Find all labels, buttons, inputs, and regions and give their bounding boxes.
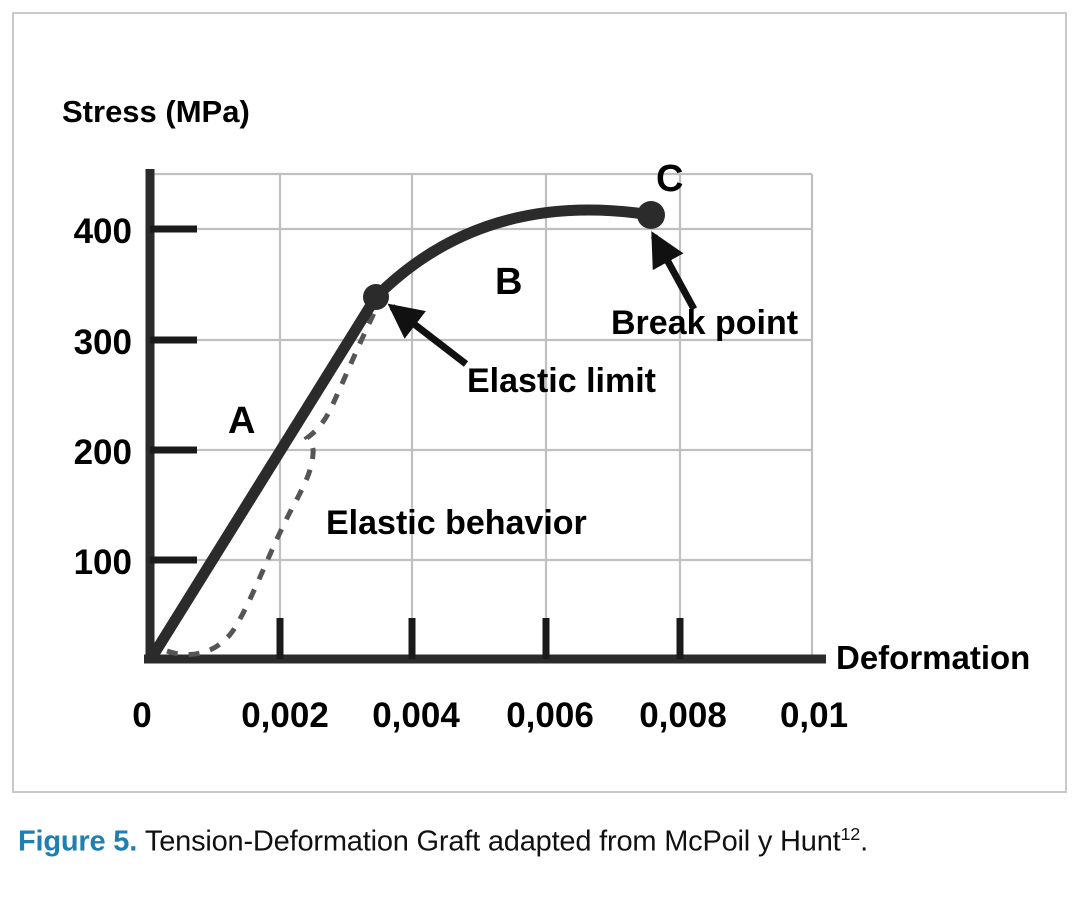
x-axis-title: Deformation (836, 639, 1030, 676)
y-tick-label-400: 400 (74, 212, 132, 251)
region-label-b: B (495, 261, 522, 303)
elastic-region-line (154, 297, 376, 654)
elastic-limit-point-marker (363, 284, 389, 310)
figure-caption-text: Tension-Deformation Graft adapted from M… (145, 826, 841, 858)
figure-panel: Stress (MPa) (12, 12, 1067, 793)
page-root: Stress (MPa) (0, 0, 1082, 914)
figure-caption-period: . (860, 826, 868, 858)
annotation-elastic-behavior: Elastic behavior (326, 504, 587, 542)
annotation-break-point: Break point (611, 304, 798, 342)
y-tick-label-100: 100 (74, 543, 132, 582)
elastic-limit-arrow (392, 307, 466, 364)
x-tick-label-001: 0,01 (780, 696, 848, 735)
elastic-behavior-curve (167, 309, 376, 655)
y-axis-title: Stress (MPa) (62, 94, 250, 129)
y-tick-label-300: 300 (74, 323, 132, 362)
break-point-marker (637, 201, 665, 229)
x-tick-label-0: 0 (132, 696, 151, 735)
annotation-elastic-limit: Elastic limit (467, 362, 656, 400)
figure-caption: Figure 5. Tension-Deformation Graft adap… (18, 824, 1068, 859)
x-axis-ticks (280, 618, 680, 659)
figure-caption-superscript: 12 (841, 824, 861, 844)
figure-number-label: Figure 5. (18, 826, 137, 858)
y-axis-ticks (150, 229, 197, 560)
y-tick-label-200: 200 (74, 433, 132, 472)
stress-deformation-chart: Stress (MPa) (14, 14, 1065, 791)
break-point-arrow (654, 236, 694, 309)
region-label-a: A (228, 400, 255, 442)
x-tick-label-0008: 0,008 (639, 696, 727, 735)
point-label-c: C (656, 158, 683, 200)
x-tick-label-0004: 0,004 (372, 696, 460, 735)
x-tick-label-0006: 0,006 (506, 696, 594, 735)
x-tick-label-0002: 0,002 (241, 696, 329, 735)
